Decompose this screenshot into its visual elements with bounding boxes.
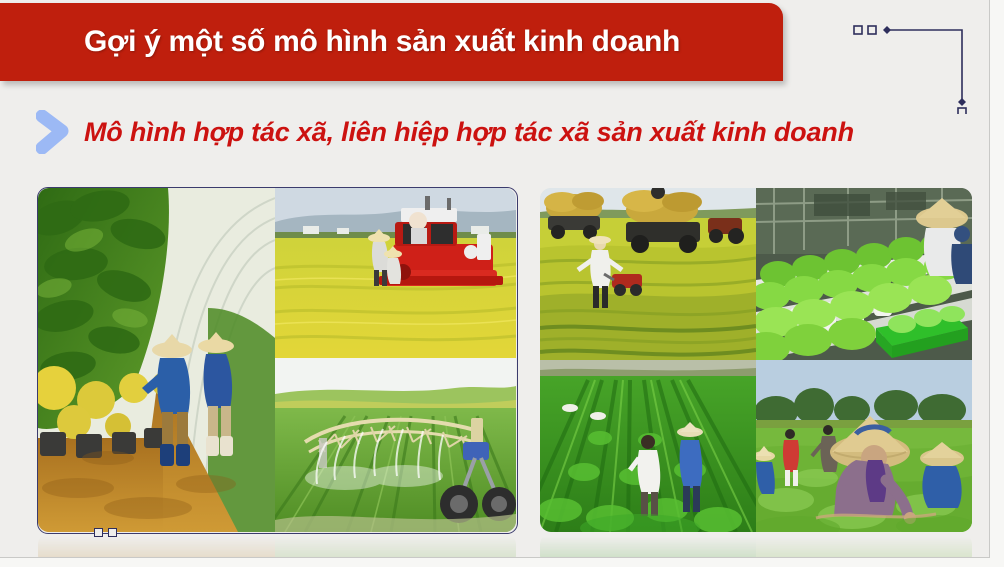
subtitle-row: Mô hình hợp tác xã, liên hiệp hợp tác xã… (36, 104, 976, 160)
slide-right-edge (989, 0, 1004, 567)
slide-bottom-edge (0, 557, 990, 567)
photo-vegetable-field-rows[interactable] (540, 360, 756, 532)
photo-red-combine-harvester-rice-field[interactable] (275, 188, 516, 358)
photo-center-pivot-irrigation-system[interactable] (275, 358, 516, 532)
photo-greenhouse-melon-farm[interactable] (38, 188, 275, 532)
photo-group-right[interactable] (540, 188, 972, 532)
worker-blue (951, 226, 972, 284)
photo-rice-harvest-transport[interactable] (540, 188, 756, 360)
subtitle-text: Mô hình hợp tác xã, liên hiệp hợp tác xã… (84, 117, 854, 148)
slide-canvas: Gợi ý một số mô hình sản xuất kinh doanh… (0, 0, 1004, 567)
title-banner: Gợi ý một số mô hình sản xuất kinh doanh (0, 3, 783, 81)
worker-crouching-right (920, 442, 964, 508)
page-title: Gợi ý một số mô hình sản xuất kinh doanh (84, 25, 680, 59)
chevron-right-icon (36, 110, 70, 154)
connector-line-decoration (852, 22, 982, 114)
connector-svg (852, 22, 982, 114)
photo-group-left[interactable] (38, 188, 516, 532)
photo-hydroponic-greenhouse-vegetables[interactable] (756, 188, 972, 360)
photo-farmers-harvesting-vegetables[interactable] (756, 360, 972, 532)
